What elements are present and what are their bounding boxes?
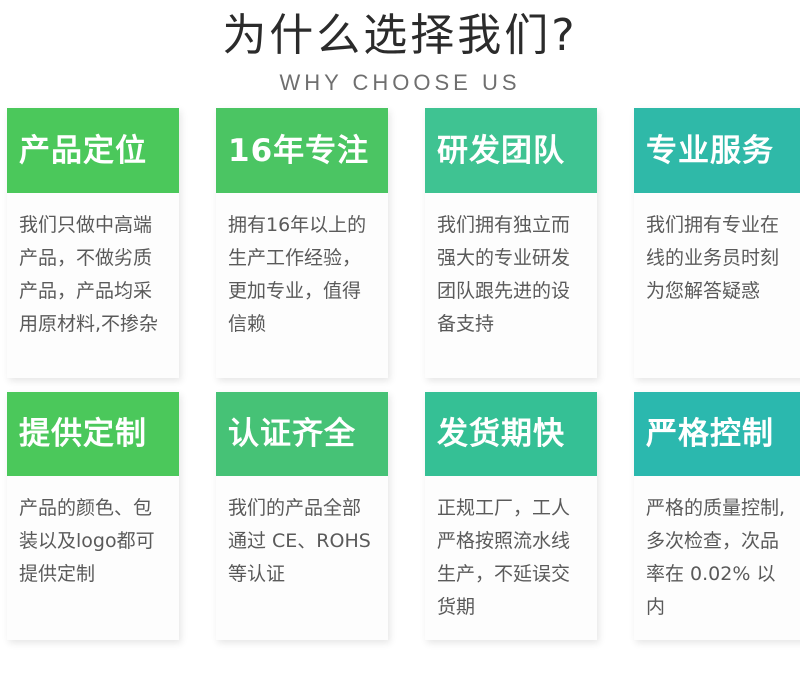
card-description: 我们拥有专业在线的业务员时刻为您解答疑惑 (646, 209, 794, 308)
card-header: 专业服务 (634, 108, 800, 193)
feature-card: 专业服务 我们拥有专业在线的业务员时刻为您解答疑惑 (634, 108, 800, 378)
feature-card-grid: 产品定位 我们只做中高端产品，不做劣质产品，产品均采用原材料,不掺杂 16年专注… (0, 108, 800, 640)
card-body: 我们拥有专业在线的业务员时刻为您解答疑惑 (634, 193, 800, 378)
card-title: 提供定制 (19, 417, 147, 451)
card-title: 产品定位 (19, 134, 147, 168)
feature-card: 研发团队 我们拥有独立而强大的专业研发团队跟先进的设备支持 (425, 108, 597, 378)
card-description: 正规工厂，工人严格按照流水线生产，不延误交货期 (437, 492, 585, 624)
card-body: 产品的颜色、包装以及logo都可提供定制 (7, 476, 179, 640)
feature-card: 认证齐全 我们的产品全部通过 CE、ROHS等认证 (216, 392, 388, 640)
card-title: 16年专注 (228, 134, 369, 168)
card-body: 严格的质量控制, 多次检查，次品率在 0.02% 以内 (634, 476, 800, 640)
card-header: 发货期快 (425, 392, 597, 476)
card-description: 严格的质量控制, 多次检查，次品率在 0.02% 以内 (646, 492, 794, 624)
why-choose-us-section: 为什么选择我们? WHY CHOOSE US 产品定位 我们只做中高端产品，不做… (0, 0, 800, 695)
section-heading: 为什么选择我们? WHY CHOOSE US (0, 0, 800, 98)
feature-card: 提供定制 产品的颜色、包装以及logo都可提供定制 (7, 392, 179, 640)
feature-card: 严格控制 严格的质量控制, 多次检查，次品率在 0.02% 以内 (634, 392, 800, 640)
card-header: 认证齐全 (216, 392, 388, 476)
card-body: 正规工厂，工人严格按照流水线生产，不延误交货期 (425, 476, 597, 640)
card-description: 拥有16年以上的生产工作经验，更加专业，值得信赖 (228, 209, 376, 341)
card-title: 研发团队 (437, 134, 565, 168)
card-description: 产品的颜色、包装以及logo都可提供定制 (19, 492, 167, 591)
card-description: 我们拥有独立而强大的专业研发团队跟先进的设备支持 (437, 209, 585, 341)
feature-card: 发货期快 正规工厂，工人严格按照流水线生产，不延误交货期 (425, 392, 597, 640)
card-header: 提供定制 (7, 392, 179, 476)
card-body: 拥有16年以上的生产工作经验，更加专业，值得信赖 (216, 193, 388, 378)
card-description: 我们的产品全部通过 CE、ROHS等认证 (228, 492, 376, 591)
card-body: 我们的产品全部通过 CE、ROHS等认证 (216, 476, 388, 640)
page-subtitle: WHY CHOOSE US (0, 68, 800, 98)
card-header: 严格控制 (634, 392, 800, 476)
card-body: 我们拥有独立而强大的专业研发团队跟先进的设备支持 (425, 193, 597, 378)
card-title: 严格控制 (646, 417, 774, 451)
card-body: 我们只做中高端产品，不做劣质产品，产品均采用原材料,不掺杂 (7, 193, 179, 378)
feature-card: 产品定位 我们只做中高端产品，不做劣质产品，产品均采用原材料,不掺杂 (7, 108, 179, 378)
card-title: 发货期快 (437, 417, 565, 451)
card-header: 产品定位 (7, 108, 179, 193)
page-title: 为什么选择我们? (0, 8, 800, 64)
card-title: 认证齐全 (228, 417, 356, 451)
card-header: 16年专注 (216, 108, 388, 193)
card-header: 研发团队 (425, 108, 597, 193)
feature-card: 16年专注 拥有16年以上的生产工作经验，更加专业，值得信赖 (216, 108, 388, 378)
card-description: 我们只做中高端产品，不做劣质产品，产品均采用原材料,不掺杂 (19, 209, 167, 341)
card-title: 专业服务 (646, 134, 774, 168)
